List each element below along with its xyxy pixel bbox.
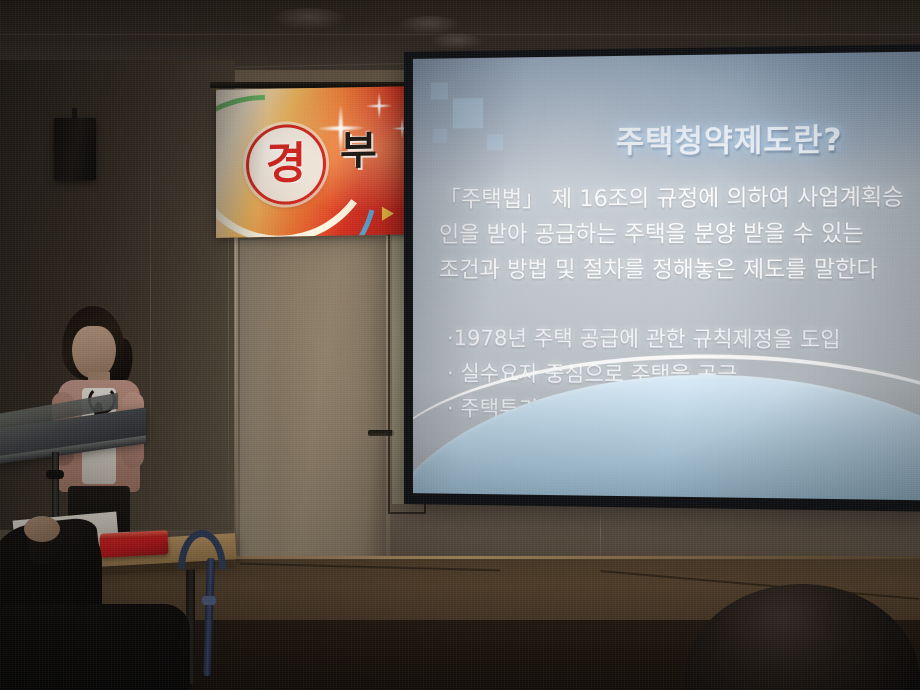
slide-body-line: 조건과 방법 및 절차를 정해놓은 제도를 말한다 [439, 252, 920, 288]
projection-screen-frame: 주택청약제도란? 「주택법」 제 16조의 규정에 의하여 사업계획승 인을 받… [404, 44, 920, 512]
wall-panel-seam [150, 96, 151, 526]
slide-bullet-item: ·1978년 주택 공급에 관한 규칙제정을 도입 [447, 321, 920, 359]
slide-decor-square [431, 82, 448, 99]
banner-emblem-character: 경 [266, 142, 306, 187]
slide-title: 주택청약제도란? [534, 114, 920, 162]
banner-arrow-icon [382, 206, 394, 220]
foreground-chair [0, 604, 190, 690]
slide-body-line: 인을 받아 공급하는 주택을 분양 받을 수 있는 [439, 216, 920, 253]
slide-decor-square [453, 98, 483, 128]
promotional-banner: 경 부 [216, 86, 412, 238]
slide-body-text: 「주택법」 제 16조의 규정에 의하여 사업계획승 인을 받아 공급하는 주택… [439, 179, 920, 288]
wall-panel-seam [600, 500, 601, 564]
slide-decor-square [433, 129, 447, 143]
projected-slide: 주택청약제도란? 「주택법」 제 16조의 규정에 의하여 사업계획승 인을 받… [413, 51, 920, 500]
presenter-face [72, 326, 116, 378]
banner-headline: 부 [340, 131, 376, 172]
sparkle-icon [366, 93, 392, 119]
door-highlight [240, 240, 276, 592]
umbrella-strap [202, 596, 216, 605]
ceiling-light [430, 34, 484, 50]
wall-speaker [54, 118, 96, 180]
ceiling-vent [398, 16, 460, 34]
slide-body-line: 「주택법」 제 16조의 규정에 의하여 사업계획승 [439, 179, 920, 217]
lectern-height-knob[interactable] [46, 470, 64, 479]
lecture-hall-photo: 경 부 주택청약제도란? 「주택법」 제 16조의 규정에 의하여 사업계획승 … [0, 0, 920, 690]
slide-decor-square [487, 134, 503, 150]
audience-member-hand [24, 516, 60, 542]
ceiling-vent [272, 8, 346, 30]
